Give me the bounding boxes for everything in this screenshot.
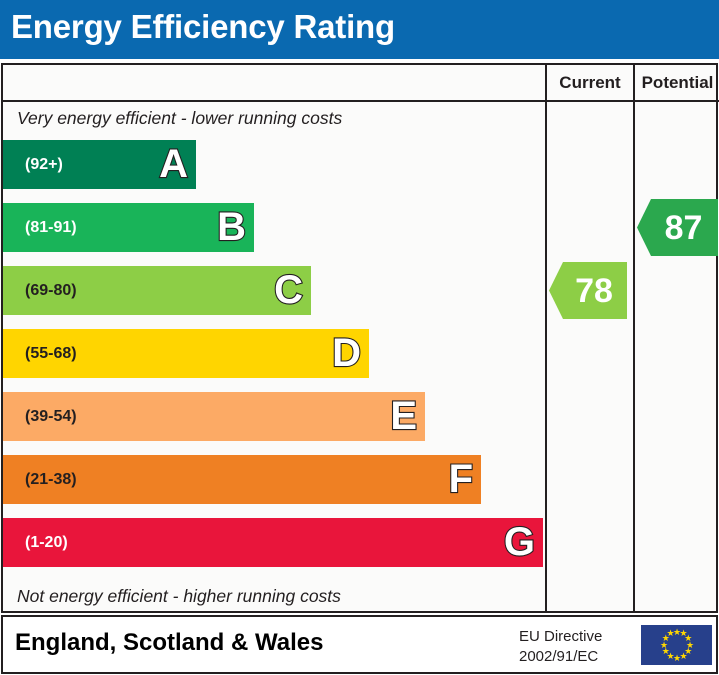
band-letter-b: B xyxy=(217,207,246,247)
column-header-potential: Potential xyxy=(635,73,719,93)
rating-marker-current: 78 xyxy=(549,262,627,319)
band-d: (55-68)D xyxy=(3,329,369,378)
header-divider-left xyxy=(3,100,545,102)
footer-directive-line2: 2002/91/EC xyxy=(519,647,629,667)
rating-marker-potential: 87 xyxy=(637,199,718,256)
eu-star-icon: ★ xyxy=(667,630,674,637)
chart-body: Current Potential Very energy efficient … xyxy=(1,63,718,613)
band-range-g: (1-20) xyxy=(25,534,68,552)
footer-directive: EU Directive 2002/91/EC xyxy=(519,627,629,666)
band-letter-d: D xyxy=(332,333,361,373)
footer-directive-line1: EU Directive xyxy=(519,627,629,647)
band-range-f: (21-38) xyxy=(25,471,77,489)
band-f: (21-38)F xyxy=(3,455,481,504)
title-bar: Energy Efficiency Rating xyxy=(0,0,719,59)
band-letter-f: F xyxy=(449,459,473,499)
band-letter-e: E xyxy=(390,396,417,436)
band-range-b: (81-91) xyxy=(25,219,77,237)
band-range-c: (69-80) xyxy=(25,282,77,300)
band-letter-c: C xyxy=(274,270,303,310)
page-title: Energy Efficiency Rating xyxy=(11,8,395,46)
band-b: (81-91)B xyxy=(3,203,254,252)
band-range-d: (55-68) xyxy=(25,345,77,363)
band-c: (69-80)C xyxy=(3,266,311,315)
footer: England, Scotland & Wales EU Directive 2… xyxy=(1,615,718,674)
caption-top: Very energy efficient - lower running co… xyxy=(17,108,342,129)
caption-bottom: Not energy efficient - higher running co… xyxy=(17,586,341,607)
band-range-a: (92+) xyxy=(25,156,63,174)
eu-flag-icon: ★★★★★★★★★★★★ xyxy=(641,625,712,665)
band-g: (1-20)G xyxy=(3,518,543,567)
column-header-current: Current xyxy=(547,73,633,93)
band-e: (39-54)E xyxy=(3,392,425,441)
band-a: (92+)A xyxy=(3,140,196,189)
epc-chart: Energy Efficiency Rating Current Potenti… xyxy=(0,0,719,675)
band-letter-a: A xyxy=(159,144,188,184)
column-separator-potential xyxy=(633,65,635,611)
footer-region-label: England, Scotland & Wales xyxy=(15,629,323,657)
column-separator-current xyxy=(545,65,547,611)
band-range-e: (39-54) xyxy=(25,408,77,426)
rating-value-current: 78 xyxy=(563,274,613,308)
band-letter-g: G xyxy=(504,522,535,562)
rating-value-potential: 87 xyxy=(653,211,703,245)
